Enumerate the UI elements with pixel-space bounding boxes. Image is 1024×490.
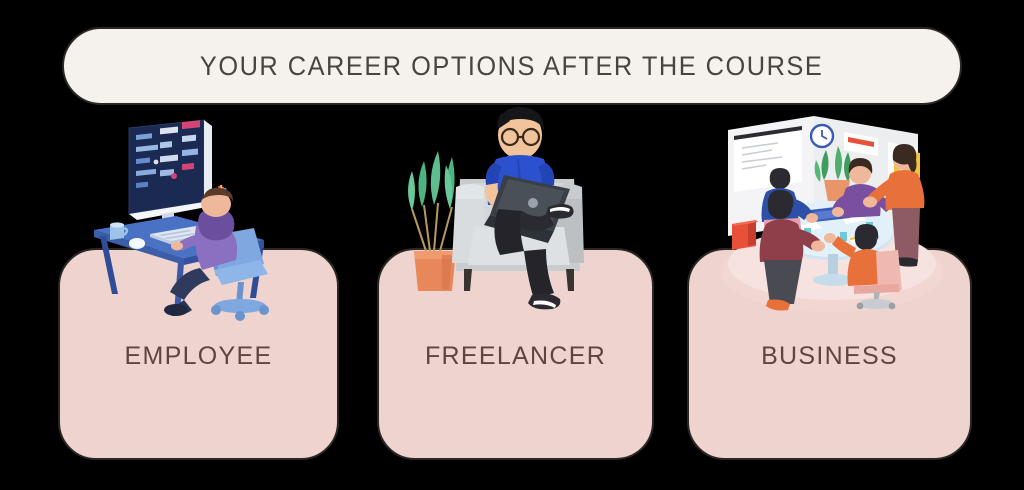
career-card-business[interactable]: BUSINESS	[687, 248, 972, 460]
career-card-freelancer[interactable]: FREELANCER	[377, 248, 654, 460]
career-options-row: EMPLOYEE FREELANCER BUSINESS	[0, 0, 1024, 490]
career-card-label: BUSINESS	[689, 342, 970, 371]
infographic-canvas: YOUR CAREER OPTIONS AFTER THE COURSE EMP…	[0, 0, 1024, 490]
career-card-label: FREELANCER	[379, 342, 652, 371]
career-card-label: EMPLOYEE	[60, 342, 337, 371]
career-card-employee[interactable]: EMPLOYEE	[58, 248, 339, 460]
